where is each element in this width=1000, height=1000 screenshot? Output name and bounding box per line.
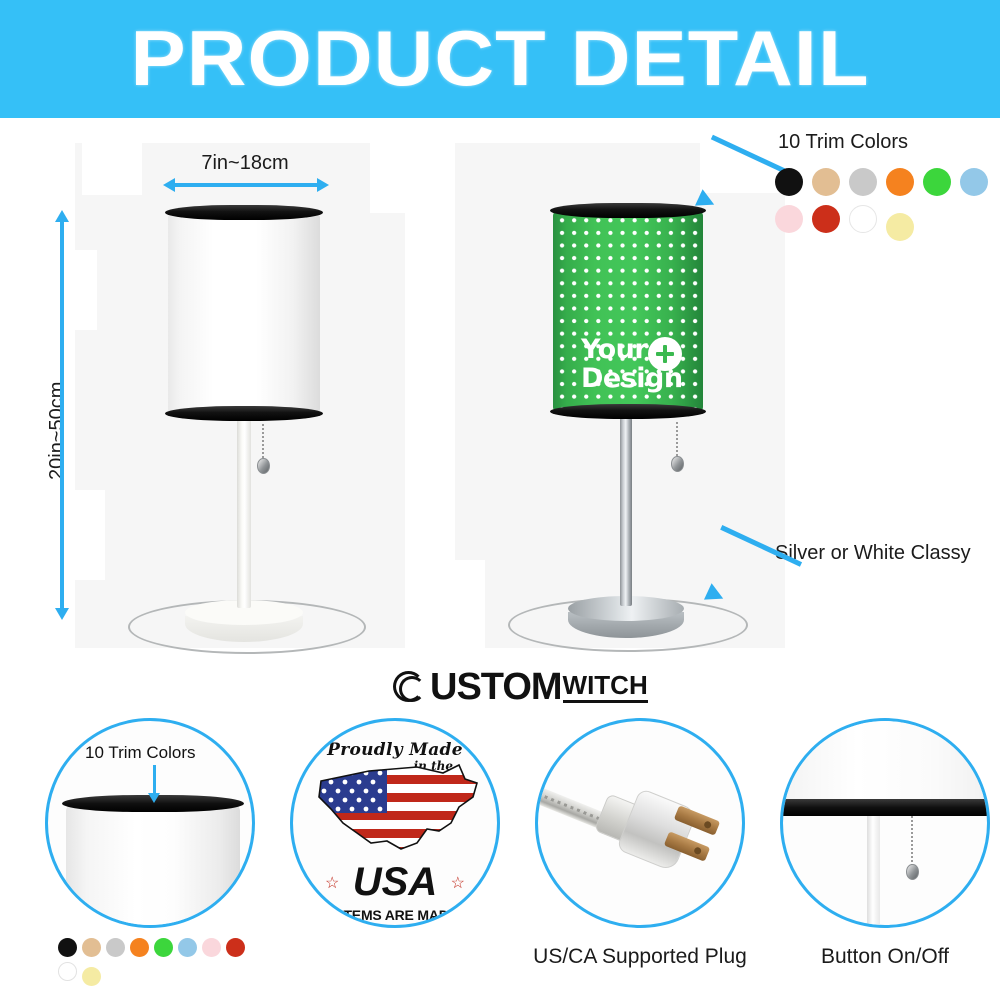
swatch-bottom-gray[interactable]	[106, 938, 125, 957]
width-dimension-arrow	[163, 178, 329, 192]
lamp-pole-white	[237, 420, 251, 608]
feature-trim-colors-arrow	[148, 765, 160, 795]
page-title: PRODUCT DETAIL	[0, 16, 1000, 100]
feature-caption-plug: US/CA Supported Plug	[500, 945, 780, 969]
design-line-1: Your	[581, 334, 647, 365]
swatch-tan[interactable]	[812, 168, 840, 196]
swatch-bottom-green[interactable]	[154, 938, 173, 957]
panel-mask-d	[370, 143, 406, 213]
swatch-green[interactable]	[923, 168, 951, 196]
usa-star-left: ☆	[325, 873, 339, 893]
swatch-bottom-pink[interactable]	[202, 938, 221, 957]
shade-closeup-body	[66, 805, 240, 928]
feature-caption-switch: Button On/Off	[770, 945, 1000, 969]
pull-chain-switch-icon	[911, 816, 925, 869]
lamp-pole-silver	[620, 418, 632, 606]
swatch-bottom-black[interactable]	[58, 938, 77, 957]
swatch-white[interactable]	[849, 205, 877, 233]
usa-word: USA	[293, 861, 497, 903]
pull-chain-silver	[676, 422, 690, 460]
panel-mask-f	[455, 560, 485, 648]
switch-shade-body	[780, 718, 990, 806]
panel-mask-a	[82, 143, 142, 195]
feature-circle-switch	[780, 718, 990, 928]
shade-trim-bottom-green	[550, 404, 706, 419]
feature-trim-colors-label: 10 Trim Colors	[85, 743, 196, 763]
swatch-pink[interactable]	[775, 205, 803, 233]
swatch-bottom-red[interactable]	[226, 938, 245, 957]
brand-name-primary: USTOM	[430, 666, 562, 709]
swatch-orange[interactable]	[886, 168, 914, 196]
usa-star-right: ☆	[451, 873, 465, 893]
brand-name-secondary: WITCH	[563, 672, 648, 698]
panel-mask-b	[75, 250, 97, 330]
lamp-shade-green: Your Design	[553, 210, 703, 413]
feature-circle-trim-colors: 10 Trim Colors	[45, 718, 255, 928]
shade-trim-top-green	[550, 203, 706, 218]
trim-color-swatches-top	[775, 168, 1000, 241]
brand-underline	[563, 700, 648, 703]
plus-circle-icon	[648, 337, 682, 371]
swatch-yellow[interactable]	[886, 213, 914, 241]
shade-trim-bottom-white	[165, 406, 323, 421]
usa-subtitle: ALL ITEMS ARE MADE TO ORDER!	[293, 907, 497, 928]
swatch-light-blue[interactable]	[960, 168, 988, 196]
base-finish-callout-arrow	[705, 560, 805, 605]
lamp-shade-white	[168, 212, 320, 415]
trim-color-swatches-bottom	[58, 938, 248, 986]
swatch-bottom-white[interactable]	[58, 962, 77, 981]
switch-pole	[867, 816, 880, 928]
swatch-black[interactable]	[775, 168, 803, 196]
pull-chain-white	[262, 424, 276, 462]
swatch-bottom-orange[interactable]	[130, 938, 149, 957]
usa-flag-map-icon	[309, 757, 487, 861]
feature-circle-made-in-usa: Proudly Made in the	[290, 718, 500, 928]
height-dimension-arrow	[55, 210, 69, 620]
swatch-bottom-light-blue[interactable]	[178, 938, 197, 957]
trim-colors-callout-label: 10 Trim Colors	[778, 131, 908, 154]
swatch-gray[interactable]	[849, 168, 877, 196]
swatch-bottom-tan[interactable]	[82, 938, 101, 957]
double-ring-c-icon	[393, 670, 429, 706]
header-banner: PRODUCT DETAIL	[0, 0, 1000, 118]
feature-circle-plug	[535, 718, 745, 928]
swatch-red[interactable]	[812, 205, 840, 233]
product-detail-infographic: PRODUCT DETAIL 7in~18cm 20in~50cm	[0, 0, 1000, 1000]
width-dimension-label: 7in~18cm	[150, 152, 340, 175]
panel-mask-c	[75, 490, 105, 580]
shade-trim-top-white	[165, 205, 323, 220]
brand-logo: USTOM WITCH	[393, 666, 648, 709]
swatch-bottom-yellow[interactable]	[82, 967, 101, 986]
switch-shade-trim	[780, 799, 990, 816]
